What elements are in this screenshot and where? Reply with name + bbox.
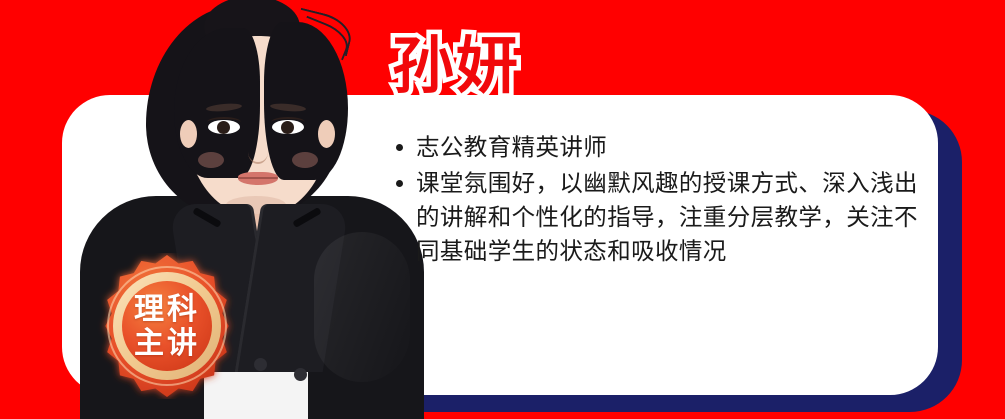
subject-seal-badge: 理科 主讲 [94, 253, 240, 399]
bullet-text: 课堂氛围好，以幽默风趣的授课方式、深入浅出的讲解和个性化的指导，注重分层教学，关… [416, 170, 918, 264]
lip-line [238, 177, 278, 179]
blazer-button-lower [294, 368, 307, 381]
blazer-button-upper [254, 358, 267, 371]
ear-right [318, 120, 335, 148]
list-item: 志公教育精英讲师 [394, 130, 922, 164]
cheek-left [198, 152, 224, 168]
eyelid-right [271, 117, 305, 127]
instructor-name: 孙妍 [392, 36, 520, 98]
seal-shape-icon [94, 253, 240, 399]
ear-left [180, 120, 197, 148]
nose [248, 140, 268, 164]
eyelid-left [207, 117, 241, 127]
bullet-dot-icon [396, 180, 403, 187]
bullet-text: 志公教育精英讲师 [416, 134, 607, 160]
bullet-dot-icon [396, 144, 403, 151]
instructor-bullet-list: 志公教育精英讲师 课堂氛围好，以幽默风趣的授课方式、深入浅出的讲解和个性化的指导… [394, 130, 922, 270]
list-item: 课堂氛围好，以幽默风趣的授课方式、深入浅出的讲解和个性化的指导，注重分层教学，关… [394, 166, 922, 268]
cheek-right [292, 152, 318, 168]
instructor-promo-banner: 理科 主讲 孙妍 志公教育精英讲师 课堂氛围好，以幽默风趣的授课方式、深入浅出的… [0, 0, 1005, 419]
